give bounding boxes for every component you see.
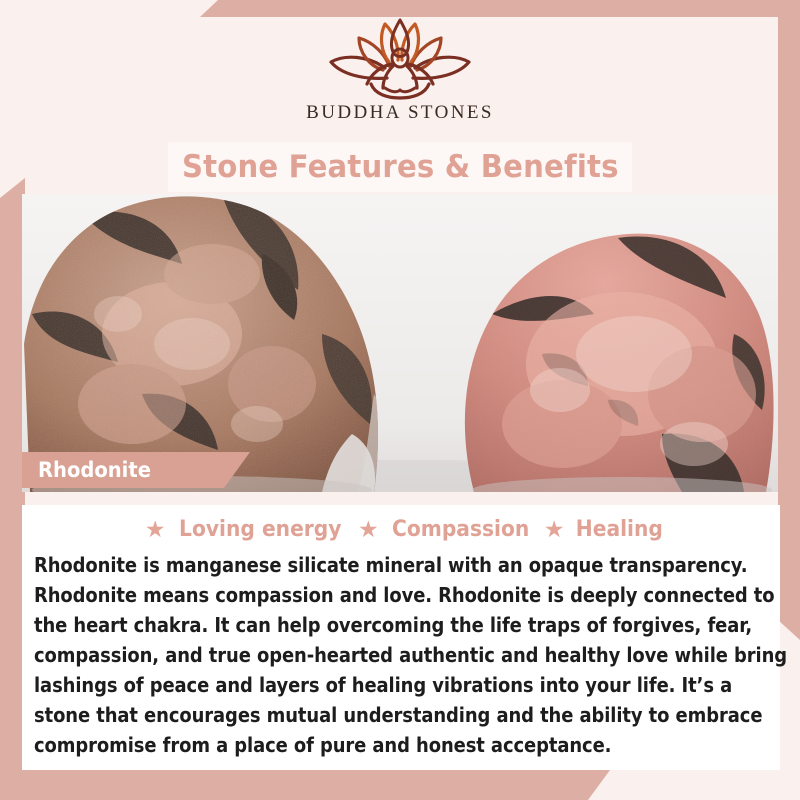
rhodonite-stones-photo (22, 194, 778, 492)
star-icon: ★ (544, 518, 565, 541)
feature-label: Loving energy (179, 517, 341, 542)
lotus-meditation-icon (325, 18, 475, 100)
feature-label: Healing (575, 517, 662, 542)
star-icon: ★ (145, 518, 166, 541)
star-icon: ★ (358, 518, 379, 541)
stone-info-card: BUDDHA STONES Stone Features & Benefits (0, 0, 800, 800)
feature-label: Compassion (392, 517, 529, 542)
decorative-top-band (200, 0, 800, 17)
brand-name: BUDDHA STONES (306, 102, 494, 124)
decorative-bottom-band (0, 770, 610, 800)
feature-item-healing: ★ Healing (535, 517, 666, 542)
stone-name-badge: Rhodonite (22, 452, 250, 488)
brand-header: BUDDHA STONES (0, 18, 800, 140)
title-banner: Stone Features & Benefits (168, 142, 632, 192)
feature-item-loving-energy: ★ Loving energy (136, 517, 349, 542)
stone-name-label: Rhodonite (38, 458, 151, 482)
feature-list: ★ Loving energy ★ Compassion ★ Healing (22, 505, 780, 542)
stone-description: Rhodonite is manganese silicate mineral … (34, 550, 790, 760)
page-title: Stone Features & Benefits (182, 149, 619, 185)
feature-item-compassion: ★ Compassion (349, 517, 535, 542)
description-panel: ★ Loving energy ★ Compassion ★ Healing R… (22, 505, 780, 770)
